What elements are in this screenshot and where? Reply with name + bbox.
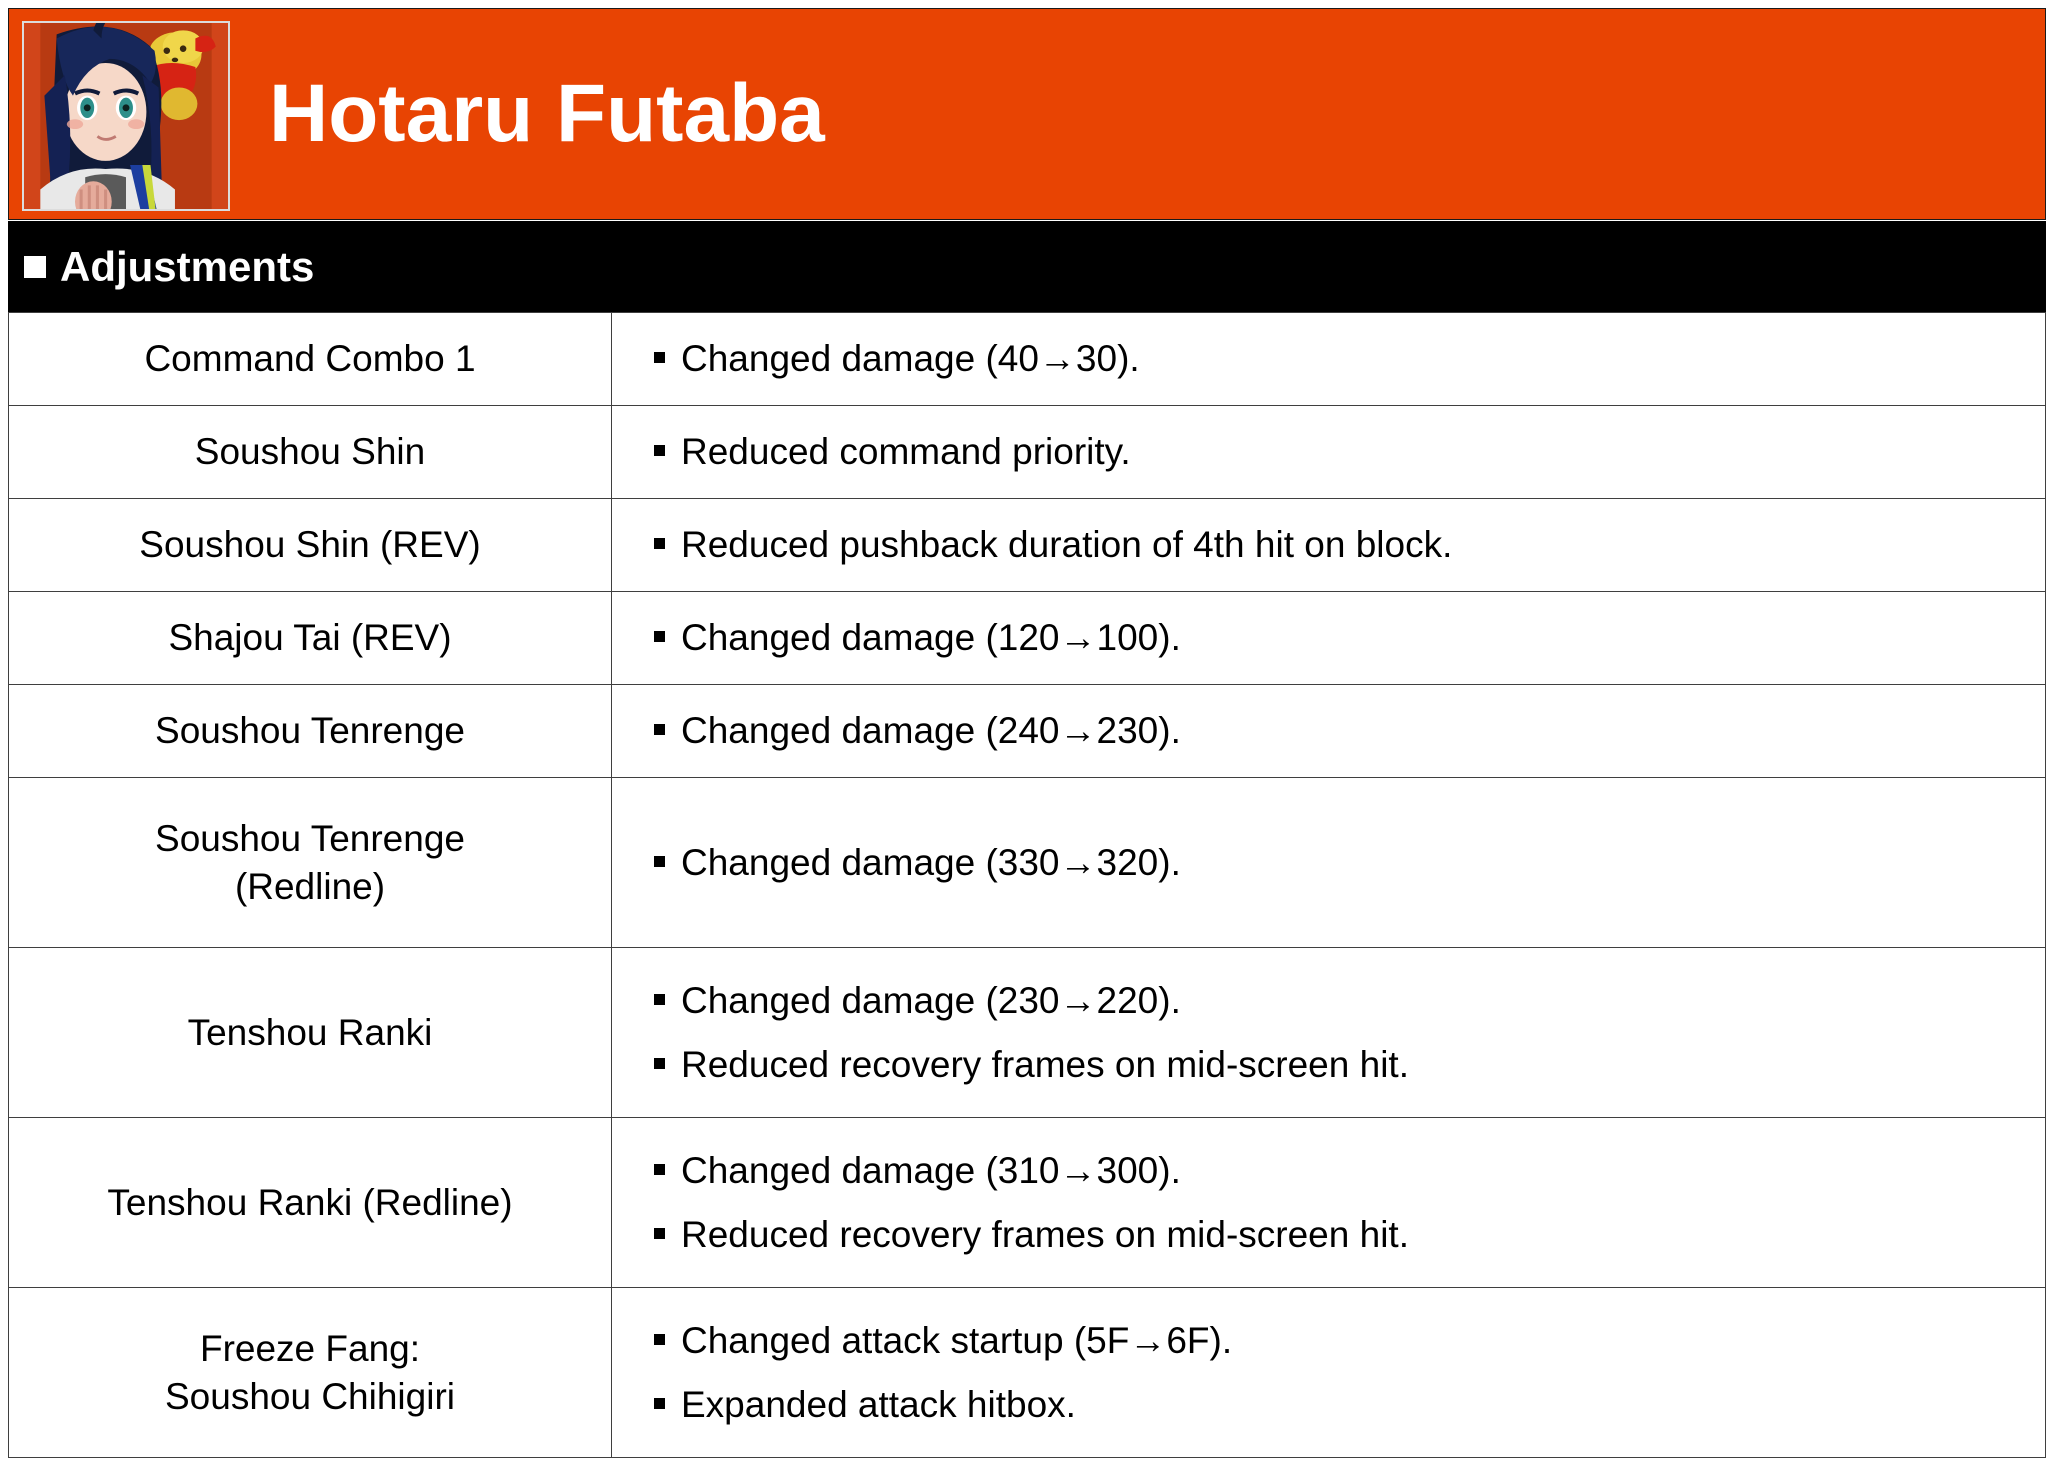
change-bullet-item: Changed damage (40→30). — [654, 334, 2035, 384]
change-bullet-item: Reduced recovery frames on mid-screen hi… — [654, 1040, 2035, 1090]
move-name-cell: Tenshou Ranki — [9, 948, 612, 1118]
table-row: Tenshou Ranki (Redline) Changed damage (… — [9, 1118, 2046, 1288]
change-text: Changed damage (240→230). — [681, 706, 1181, 756]
change-description-cell: Changed damage (330→320). — [612, 778, 2046, 948]
section-title: Adjustments — [60, 246, 314, 288]
change-text: Reduced command priority. — [681, 427, 1131, 477]
move-name: Tenshou Ranki (Redline) — [107, 1182, 512, 1223]
change-description-cell: Changed damage (310→300). Reduced recove… — [612, 1118, 2046, 1288]
change-text: Changed damage (310→300). — [681, 1146, 1181, 1196]
change-text: Reduced recovery frames on mid-screen hi… — [681, 1040, 1409, 1090]
change-description-cell: Changed damage (230→220). Reduced recove… — [612, 948, 2046, 1118]
change-text: Changed damage (40→30). — [681, 334, 1140, 384]
small-square-bullet-icon — [654, 445, 665, 456]
patch-notes-slide: Hotaru Futaba Adjustments Command Combo … — [0, 0, 2053, 1466]
square-bullet-icon — [24, 256, 46, 278]
change-text: Changed damage (120→100). — [681, 613, 1181, 663]
table-row: Command Combo 1 Changed damage (40→30). — [9, 313, 2046, 406]
change-text: Changed damage (230→220). — [681, 976, 1181, 1026]
move-name: Command Combo 1 — [144, 338, 475, 379]
move-name-cell: Soushou Shin (REV) — [9, 499, 612, 592]
table-row: Freeze Fang: Soushou Chihigiri Changed a… — [9, 1288, 2046, 1458]
small-square-bullet-icon — [654, 631, 665, 642]
change-text: Changed attack startup (5F→6F). — [681, 1316, 1232, 1366]
small-square-bullet-icon — [654, 724, 665, 735]
change-text: Reduced recovery frames on mid-screen hi… — [681, 1210, 1409, 1260]
move-name-secondary: Soushou Chihigiri — [19, 1373, 601, 1420]
move-name-cell: Tenshou Ranki (Redline) — [9, 1118, 612, 1288]
table-row: Soushou Tenrenge (Redline) Changed damag… — [9, 778, 2046, 948]
move-name: Soushou Tenrenge — [19, 815, 601, 862]
adjustments-table: Command Combo 1 Changed damage (40→30). … — [8, 312, 2046, 1458]
change-bullet-item: Reduced recovery frames on mid-screen hi… — [654, 1210, 2035, 1260]
move-name-cell: Shajou Tai (REV) — [9, 592, 612, 685]
change-bullet-item: Changed damage (230→220). — [654, 976, 2035, 1026]
move-name-secondary: (Redline) — [19, 863, 601, 910]
change-bullet-item: Changed damage (310→300). — [654, 1146, 2035, 1196]
move-name: Freeze Fang: — [19, 1325, 601, 1372]
move-name-cell: Soushou Tenrenge — [9, 685, 612, 778]
change-description-cell: Reduced pushback duration of 4th hit on … — [612, 499, 2046, 592]
character-header-banner: Hotaru Futaba — [8, 8, 2046, 220]
small-square-bullet-icon — [654, 538, 665, 549]
change-bullet-item: Changed damage (120→100). — [654, 613, 2035, 663]
character-portrait-icon — [22, 21, 230, 211]
small-square-bullet-icon — [654, 352, 665, 363]
change-description-cell: Changed damage (120→100). — [612, 592, 2046, 685]
small-square-bullet-icon — [654, 1164, 665, 1175]
table-row: Soushou Tenrenge Changed damage (240→230… — [9, 685, 2046, 778]
change-bullet-item: Changed damage (240→230). — [654, 706, 2035, 756]
move-name: Shajou Tai (REV) — [168, 617, 451, 658]
move-name: Soushou Tenrenge — [155, 710, 465, 751]
change-text: Changed damage (330→320). — [681, 838, 1181, 888]
change-bullet-item: Reduced command priority. — [654, 427, 2035, 477]
move-name: Soushou Shin — [195, 431, 425, 472]
change-description-cell: Changed attack startup (5F→6F). Expanded… — [612, 1288, 2046, 1458]
move-name: Tenshou Ranki — [188, 1012, 433, 1053]
table-row: Soushou Shin Reduced command priority. — [9, 406, 2046, 499]
small-square-bullet-icon — [654, 1228, 665, 1239]
small-square-bullet-icon — [654, 1334, 665, 1345]
table-row: Tenshou Ranki Changed damage (230→220). … — [9, 948, 2046, 1118]
change-text: Reduced pushback duration of 4th hit on … — [681, 520, 1452, 570]
adjustments-table-body: Command Combo 1 Changed damage (40→30). … — [9, 313, 2046, 1458]
section-header-adjustments: Adjustments — [8, 221, 2046, 312]
page-title: Hotaru Futaba — [269, 73, 825, 155]
small-square-bullet-icon — [654, 1398, 665, 1409]
change-description-cell: Reduced command priority. — [612, 406, 2046, 499]
table-row: Shajou Tai (REV) Changed damage (120→100… — [9, 592, 2046, 685]
small-square-bullet-icon — [654, 994, 665, 1005]
table-row: Soushou Shin (REV) Reduced pushback dura… — [9, 499, 2046, 592]
small-square-bullet-icon — [654, 856, 665, 867]
move-name-cell: Freeze Fang: Soushou Chihigiri — [9, 1288, 612, 1458]
change-bullet-item: Expanded attack hitbox. — [654, 1380, 2035, 1430]
change-description-cell: Changed damage (240→230). — [612, 685, 2046, 778]
move-name-cell: Soushou Tenrenge (Redline) — [9, 778, 612, 948]
change-text: Expanded attack hitbox. — [681, 1380, 1076, 1430]
change-bullet-item: Changed attack startup (5F→6F). — [654, 1316, 2035, 1366]
move-name-cell: Command Combo 1 — [9, 313, 612, 406]
change-bullet-item: Changed damage (330→320). — [654, 838, 2035, 888]
move-name: Soushou Shin (REV) — [139, 524, 480, 565]
small-square-bullet-icon — [654, 1058, 665, 1069]
change-description-cell: Changed damage (40→30). — [612, 313, 2046, 406]
change-bullet-item: Reduced pushback duration of 4th hit on … — [654, 520, 2035, 570]
move-name-cell: Soushou Shin — [9, 406, 612, 499]
